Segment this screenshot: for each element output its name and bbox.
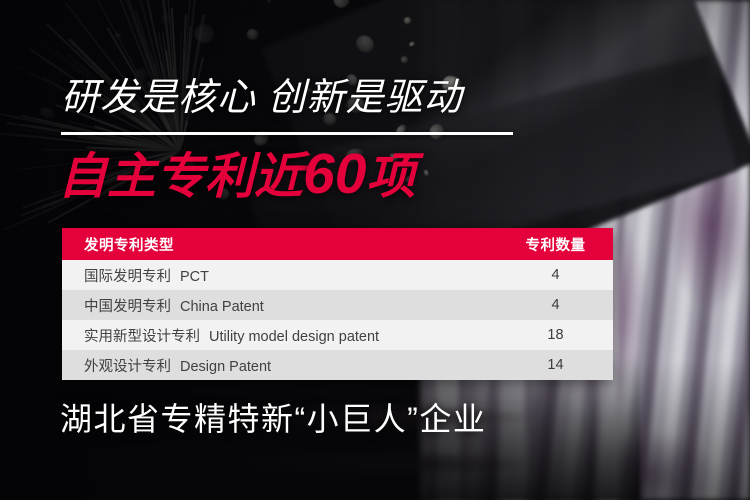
patent-type-en: PCT: [180, 269, 209, 285]
headline-secondary-number: 60: [303, 142, 366, 206]
cell-patent-count: 4: [498, 290, 613, 320]
patent-type-en: China Patent: [180, 299, 264, 315]
patent-type-en: Design Patent: [180, 359, 271, 375]
column-header-patent-type: 发明专利类型: [62, 228, 498, 260]
headline-primary: 研发是核心 创新是驱动: [61, 79, 463, 117]
banner-content: 研发是核心 创新是驱动 自主专利近60项 发明专利类型 专利数量 国际发明专利P…: [0, 0, 750, 500]
headline-secondary-suffix: 项: [366, 150, 415, 204]
headline-divider: [61, 132, 513, 135]
patent-type-cn: 实用新型设计专利: [84, 329, 200, 345]
patent-banner: 研发是核心 创新是驱动 自主专利近60项 发明专利类型 专利数量 国际发明专利P…: [0, 0, 750, 500]
table-header-row: 发明专利类型 专利数量: [62, 228, 613, 260]
table-body: 国际发明专利PCT4中国发明专利China Patent4实用新型设计专利Uti…: [62, 260, 613, 380]
cell-patent-count: 14: [498, 350, 613, 380]
cell-patent-count: 4: [498, 260, 613, 290]
cell-patent-count: 18: [498, 320, 613, 350]
patent-type-cn: 国际发明专利: [84, 269, 171, 285]
table-header: 发明专利类型 专利数量: [62, 228, 613, 260]
table-row: 外观设计专利Design Patent14: [62, 350, 613, 380]
column-header-patent-count: 专利数量: [498, 228, 613, 260]
table-row: 实用新型设计专利Utility model design patent18: [62, 320, 613, 350]
table-row: 中国发明专利China Patent4: [62, 290, 613, 320]
patent-type-cn: 外观设计专利: [84, 359, 171, 375]
footer-caption: 湖北省专精特新“小巨人”企业: [60, 403, 486, 435]
cell-patent-type: 中国发明专利China Patent: [62, 290, 498, 320]
cell-patent-type: 实用新型设计专利Utility model design patent: [62, 320, 498, 350]
headline-secondary: 自主专利近60项: [58, 146, 415, 203]
table-row: 国际发明专利PCT4: [62, 260, 613, 290]
cell-patent-type: 国际发明专利PCT: [62, 260, 498, 290]
patent-table: 发明专利类型 专利数量 国际发明专利PCT4中国发明专利China Patent…: [62, 228, 613, 380]
patent-type-cn: 中国发明专利: [84, 299, 171, 315]
headline-secondary-prefix: 自主专利近: [58, 150, 303, 204]
cell-patent-type: 外观设计专利Design Patent: [62, 350, 498, 380]
patent-type-en: Utility model design patent: [209, 329, 379, 345]
